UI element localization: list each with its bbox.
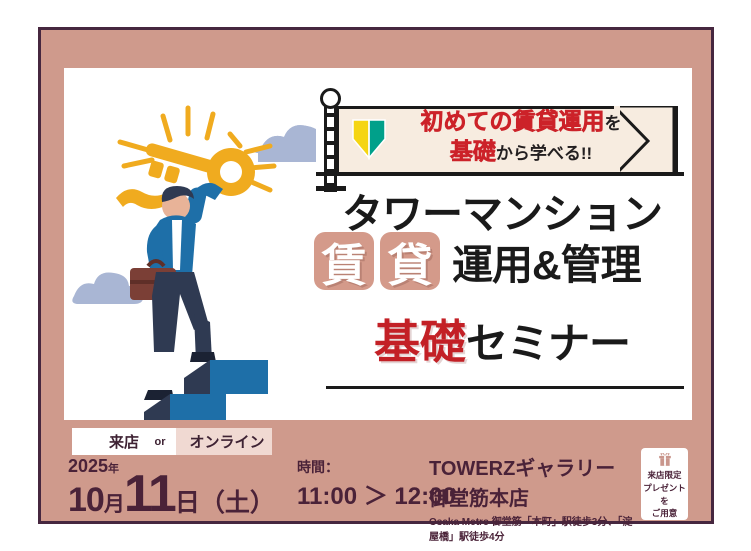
gift-box-icon <box>654 453 676 467</box>
gift-badge-text: 来店限定 プレゼントを ご用意 <box>641 469 688 520</box>
tai-char-box: 貸 <box>380 232 440 290</box>
gift-line2: プレゼントを <box>641 482 688 508</box>
event-day-of-week: （土） <box>200 483 275 519</box>
title-block: 初めての賃貸運用を 基礎から学べる!! タワーマンション 賃 貸 運用&管理 基… <box>308 68 692 420</box>
headline-line2: 賃 貸 運用&管理 <box>314 230 692 292</box>
poster-footer: 来店 オンライン or 2025年 10月11日（土） 時間： 11:00 ＞ … <box>64 426 692 521</box>
banner-text: 初めての賃貸運用を 基礎から学べる!! <box>400 110 642 163</box>
headline-kiso: 基礎 <box>374 316 466 368</box>
banner-line1-red: 初めての賃貸運用 <box>421 108 605 134</box>
headline-line2-text: 運用&管理 <box>452 231 641 291</box>
venue-name-line1: TOWERZギャラリー <box>429 452 634 481</box>
poster-frame: 初めての賃貸運用を 基礎から学べる!! タワーマンション 賃 貸 運用&管理 基… <box>38 27 714 524</box>
venue-info: TOWERZギャラリー 御堂筋本店 Osaka Metro 御堂筋「本町」駅徒歩… <box>429 452 634 545</box>
gift-line1: 来店限定 <box>641 469 688 482</box>
event-day: 11 <box>124 472 175 516</box>
headline-line3: 基礎セミナー <box>316 306 688 372</box>
banner-line1-black: を <box>605 114 622 133</box>
banner-line2-red: 基礎 <box>450 138 496 164</box>
mode-option-online: オンライン <box>176 428 272 455</box>
attendance-mode-badge: 来店 オンライン or <box>72 428 272 455</box>
event-date-row: 10月11日（土） <box>68 472 275 520</box>
businessman-key-stairs-illustration <box>64 68 316 420</box>
title-rule-top <box>316 172 684 176</box>
ribbon-banner: 初めての賃貸運用を 基礎から学べる!! <box>314 90 686 172</box>
gift-line3: ご用意 <box>641 507 688 520</box>
venue-name-line2: 御堂筋本店 <box>429 482 634 511</box>
wakaba-beginner-mark-icon <box>350 117 388 161</box>
venue-access: Osaka Metro 御堂筋「本町」駅徒歩3分、「淀屋橋」駅徒歩4分 <box>429 516 634 545</box>
title-rule-bottom <box>326 386 684 389</box>
gift-badge: 来店限定 プレゼントを ご用意 <box>641 448 688 520</box>
flag-pole <box>324 102 337 192</box>
headline-seminar: セミナー <box>466 320 630 367</box>
chin-char-box: 賃 <box>314 232 374 290</box>
banner-line2-black: から学べる!! <box>496 144 592 163</box>
mode-separator: or <box>155 436 166 448</box>
event-time-label: 時間： <box>297 457 339 477</box>
event-month-suffix: 月 <box>104 488 125 518</box>
hero-illustration <box>64 68 316 420</box>
event-day-suffix: 日 <box>175 483 200 519</box>
flag-pole-ball <box>320 88 341 109</box>
poster-main-card: 初めての賃貸運用を 基礎から学べる!! タワーマンション 賃 貸 運用&管理 基… <box>64 68 692 420</box>
event-month: 10 <box>68 481 104 520</box>
